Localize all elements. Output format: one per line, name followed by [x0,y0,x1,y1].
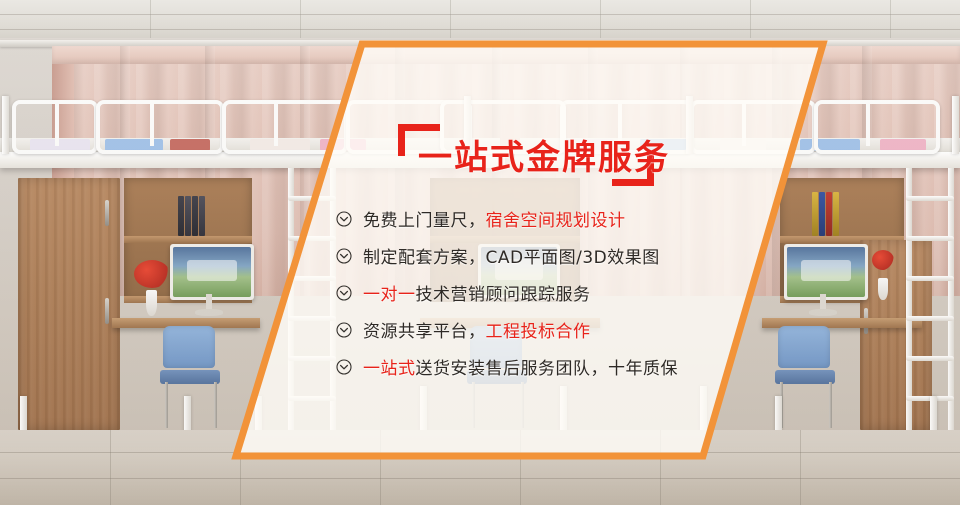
service-list: 免费上门量尺， 宿舍空间规划设计 制定配套方案，CAD平面图/3D效果图 [336,200,756,385]
title-block: 一站式金牌服务 [396,118,686,198]
list-item-text-tail: 技术营销顾问跟踪服务 [416,280,591,305]
list-item: 制定配套方案，CAD平面图/3D效果图 [336,237,756,274]
list-item: 资源共享平台， 工程投标合作 [336,311,756,348]
page-title: 一站式金牌服务 [418,130,670,179]
chevron-down-circle-icon [336,359,352,375]
list-item-text-plain: 资源共享平台， [363,317,486,342]
chevron-down-circle-icon [336,322,352,338]
list-item-text-plain: 制定配套方案，CAD平面图/3D效果图 [363,243,660,268]
list-item-text-plain: 免费上门量尺， [363,206,486,231]
list-item-text-highlight: 一对一 [363,280,416,305]
banner-content: 一站式金牌服务 免费上门量尺， 宿舍空间规划设计 [0,0,960,505]
chevron-down-circle-icon [336,248,352,264]
banner-stage: 一站式金牌服务 免费上门量尺， 宿舍空间规划设计 [0,0,960,505]
list-item: 免费上门量尺， 宿舍空间规划设计 [336,200,756,237]
list-item: 一对一 技术营销顾问跟踪服务 [336,274,756,311]
chevron-down-circle-icon [336,285,352,301]
chevron-down-circle-icon [336,211,352,227]
list-item-text-highlight: 工程投标合作 [486,317,591,342]
list-item-text-tail: 送货安装售后服务团队，十年质保 [416,354,679,379]
list-item-text-highlight: 宿舍空间规划设计 [486,206,626,231]
corner-bracket-top-left-vertical [398,124,405,156]
list-item: 一站式 送货安装售后服务团队，十年质保 [336,348,756,385]
list-item-text-highlight: 一站式 [363,354,416,379]
